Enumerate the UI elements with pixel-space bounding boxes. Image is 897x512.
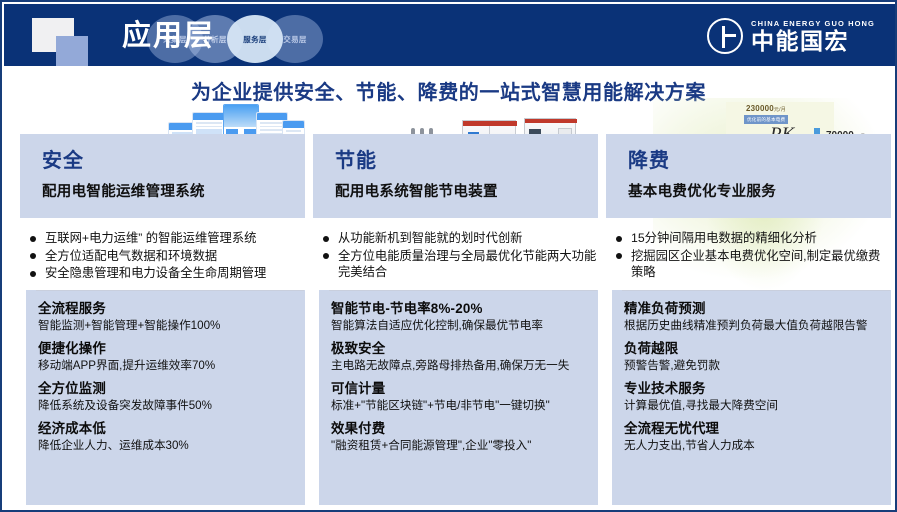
detail-item-desc: 移动端APP界面,提升运维效率70% xyxy=(38,358,305,373)
column-safety: 安全 配用电智能运维管理系统 互联网+电力运维” 的智能运维管理系统 全方位适配… xyxy=(20,102,305,510)
column-subtitle: 基本电费优化专业服务 xyxy=(628,180,776,201)
detail-item-desc: "融资租赁+合同能源管理",企业"零投入" xyxy=(331,438,598,453)
pk-before-number: 230000 xyxy=(746,104,774,113)
detail-item: 极致安全 主电路无故障点,旁路母排热备用,确保万无一失 xyxy=(331,340,598,373)
bullet-text: 从功能新机到智能就的划时代创新 xyxy=(338,230,598,247)
phone-hero-banner xyxy=(224,105,258,127)
slide-root: 采集层 分析层 交易层 服务层 应用层 CHINA ENERGY GUO HON… xyxy=(0,0,897,512)
company-logo: CHINA ENERGY GUO HONG 中能国宏 xyxy=(707,15,875,57)
bullet-item: 全方位电能质量治理与全局最优化节能两大功能完美结合 xyxy=(317,248,598,281)
bullet-text: 安全隐患管理和电力设备全生命周期管理 xyxy=(45,265,305,282)
phone-line xyxy=(286,130,301,132)
detail-item-title: 效果付费 xyxy=(331,420,598,437)
bullet-item: 从功能新机到智能就的划时代创新 xyxy=(317,230,598,247)
company-name-en: CHINA ENERGY GUO HONG xyxy=(751,19,875,28)
column-divider xyxy=(329,290,597,291)
detail-item-title: 全流程服务 xyxy=(38,300,305,317)
detail-item-desc: 智能算法自适应优化控制,确保最优节电率 xyxy=(331,318,598,333)
column-bullets-energy-saving: 从功能新机到智能就的划时代创新 全方位电能质量治理与全局最优化节能两大功能完美结… xyxy=(317,230,598,282)
pk-before-unit: 元/月 xyxy=(774,107,786,113)
bullet-dot-icon xyxy=(616,253,622,259)
logo-square-blue xyxy=(56,36,88,66)
detail-item-title: 可信计量 xyxy=(331,380,598,397)
company-logo-icon xyxy=(707,18,743,54)
bullet-item: 挖掘园区企业基本电费优化空间,制定最优缴费策略 xyxy=(610,248,891,281)
detail-item-title: 便捷化操作 xyxy=(38,340,305,357)
detail-item-title: 全方位监测 xyxy=(38,380,305,397)
detail-item: 全流程服务 智能监测+智能管理+智能操作100% xyxy=(38,300,305,333)
bullet-dot-icon xyxy=(30,253,36,259)
column-detail-panel-fee-reduction: 精准负荷预测 根据历史曲线精准预判负荷最大值负荷越限告警 负荷越限 预警告警,避… xyxy=(612,290,891,505)
bullet-dot-icon xyxy=(616,236,622,242)
phone-status-bar xyxy=(257,113,287,120)
pk-before-tag: 优化前的基本电费 xyxy=(744,115,788,124)
bullet-item: 全方位适配电气数据和环境数据 xyxy=(24,248,305,265)
column-title: 降费 xyxy=(628,144,670,173)
detail-item-title: 负荷越限 xyxy=(624,340,891,357)
detail-item-title: 经济成本低 xyxy=(38,420,305,437)
phone-line xyxy=(260,126,284,128)
layer-logo-mark xyxy=(32,18,112,64)
detail-item-desc: 降低企业人力、运维成本30% xyxy=(38,438,305,453)
page-title: 应用层 xyxy=(122,16,215,56)
bullet-text: 互联网+电力运维” 的智能运维管理系统 xyxy=(45,230,305,247)
detail-item-desc: 根据历史曲线精准预判负荷最大值负荷越限告警 xyxy=(624,318,891,333)
bullet-dot-icon xyxy=(323,253,329,259)
layer-circle-label: 交易层 xyxy=(283,34,306,45)
column-title: 节能 xyxy=(335,144,377,173)
slide-header: 采集层 分析层 交易层 服务层 应用层 CHINA ENERGY GUO HON… xyxy=(4,4,897,66)
phone-status-bar xyxy=(283,121,304,128)
column-subtitle: 配用电系统智能节电装置 xyxy=(335,180,498,201)
detail-item: 效果付费 "融资租赁+合同能源管理",企业"零投入" xyxy=(331,420,598,453)
columns-container: 安全 配用电智能运维管理系统 互联网+电力运维” 的智能运维管理系统 全方位适配… xyxy=(2,102,895,510)
bullet-text: 全方位适配电气数据和环境数据 xyxy=(45,248,305,265)
column-header-fee-reduction: 降费 基本电费优化专业服务 xyxy=(606,134,891,218)
detail-item-desc: 预警告警,避免罚款 xyxy=(624,358,891,373)
main-headline: 为企业提供安全、节能、降费的一站式智慧用能解决方案 xyxy=(2,76,895,105)
layer-circle-label: 服务层 xyxy=(243,34,266,45)
detail-item: 可信计量 标准+"节能区块链"+节电/非节电"一键切换" xyxy=(331,380,598,413)
bullet-item: 15分钟间隔用电数据的精细化分析 xyxy=(610,230,891,247)
detail-item-desc: 无人力支出,节省人力成本 xyxy=(624,438,891,453)
detail-item: 全流程无忧代理 无人力支出,节省人力成本 xyxy=(624,420,891,453)
bullet-text: 挖掘园区企业基本电费优化空间,制定最优缴费策略 xyxy=(631,248,891,281)
detail-item: 负荷越限 预警告警,避免罚款 xyxy=(624,340,891,373)
detail-item: 专业技术服务 计算最优值,寻找最大降费空间 xyxy=(624,380,891,413)
detail-item-title: 智能节电-节电率8%-20% xyxy=(331,300,598,317)
bullet-dot-icon xyxy=(30,236,36,242)
phone-line xyxy=(260,129,284,131)
phone-line xyxy=(196,126,222,128)
pk-before-value: 230000元/月 xyxy=(746,104,786,113)
detail-item-title: 全流程无忧代理 xyxy=(624,420,891,437)
detail-item-desc: 计算最优值,寻找最大降费空间 xyxy=(624,398,891,413)
detail-item: 智能节电-节电率8%-20% 智能算法自适应优化控制,确保最优节电率 xyxy=(331,300,598,333)
phone-status-bar xyxy=(193,113,225,120)
column-bullets-fee-reduction: 15分钟间隔用电数据的精细化分析 挖掘园区企业基本电费优化空间,制定最优缴费策略 xyxy=(610,230,891,282)
company-name-cn: 中能国宏 xyxy=(751,29,875,53)
phone-line xyxy=(196,122,222,124)
phone-line xyxy=(260,122,284,124)
detail-item: 经济成本低 降低企业人力、运维成本30% xyxy=(38,420,305,453)
switchgear-top-stripe xyxy=(525,119,577,123)
column-bullets-safety: 互联网+电力运维” 的智能运维管理系统 全方位适配电气数据和环境数据 安全隐患管… xyxy=(24,230,305,283)
column-title: 安全 xyxy=(42,144,84,173)
detail-item: 便捷化操作 移动端APP界面,提升运维效率70% xyxy=(38,340,305,373)
bullet-item: 安全隐患管理和电力设备全生命周期管理 xyxy=(24,265,305,282)
detail-item: 全方位监测 降低系统及设备突发故障事件50% xyxy=(38,380,305,413)
detail-item-desc: 标准+"节能区块链"+节电/非节电"一键切换" xyxy=(331,398,598,413)
column-divider xyxy=(36,290,304,291)
detail-item-desc: 主电路无故障点,旁路母排热备用,确保万无一失 xyxy=(331,358,598,373)
detail-item-title: 精准负荷预测 xyxy=(624,300,891,317)
column-header-energy-saving: 节能 配用电系统智能节电装置 xyxy=(313,134,598,218)
column-header-safety: 安全 配用电智能运维管理系统 xyxy=(20,134,305,218)
bullet-text: 15分钟间隔用电数据的精细化分析 xyxy=(631,230,891,247)
column-detail-panel-safety: 全流程服务 智能监测+智能管理+智能操作100% 便捷化操作 移动端APP界面,… xyxy=(26,290,305,505)
column-energy-saving: 节能 配用电系统智能节电装置 从功能新机到智能就的划时代创新 全方位电能质量治理… xyxy=(313,102,598,510)
detail-item: 精准负荷预测 根据历史曲线精准预判负荷最大值负荷越限告警 xyxy=(624,300,891,333)
company-logo-text: CHINA ENERGY GUO HONG 中能国宏 xyxy=(751,19,875,53)
column-fee-reduction: 230000元/月 优化前的基本电费 PK 70000元/月 160000元/月… xyxy=(606,102,891,510)
detail-item-title: 专业技术服务 xyxy=(624,380,891,397)
layer-circle-service-active[interactable]: 服务层 xyxy=(227,15,283,63)
bullet-dot-icon xyxy=(30,271,36,277)
cabinet-top-stripe xyxy=(463,121,517,126)
detail-item-title: 极致安全 xyxy=(331,340,598,357)
detail-item-desc: 智能监测+智能管理+智能操作100% xyxy=(38,318,305,333)
bullet-dot-icon xyxy=(323,236,329,242)
detail-item-desc: 降低系统及设备突发故障事件50% xyxy=(38,398,305,413)
column-detail-panel-energy-saving: 智能节电-节电率8%-20% 智能算法自适应优化控制,确保最优节电率 极致安全 … xyxy=(319,290,598,505)
bullet-item: 互联网+电力运维” 的智能运维管理系统 xyxy=(24,230,305,247)
column-subtitle: 配用电智能运维管理系统 xyxy=(42,180,205,201)
bullet-text: 全方位电能质量治理与全局最优化节能两大功能完美结合 xyxy=(338,248,598,281)
column-divider xyxy=(622,290,890,291)
